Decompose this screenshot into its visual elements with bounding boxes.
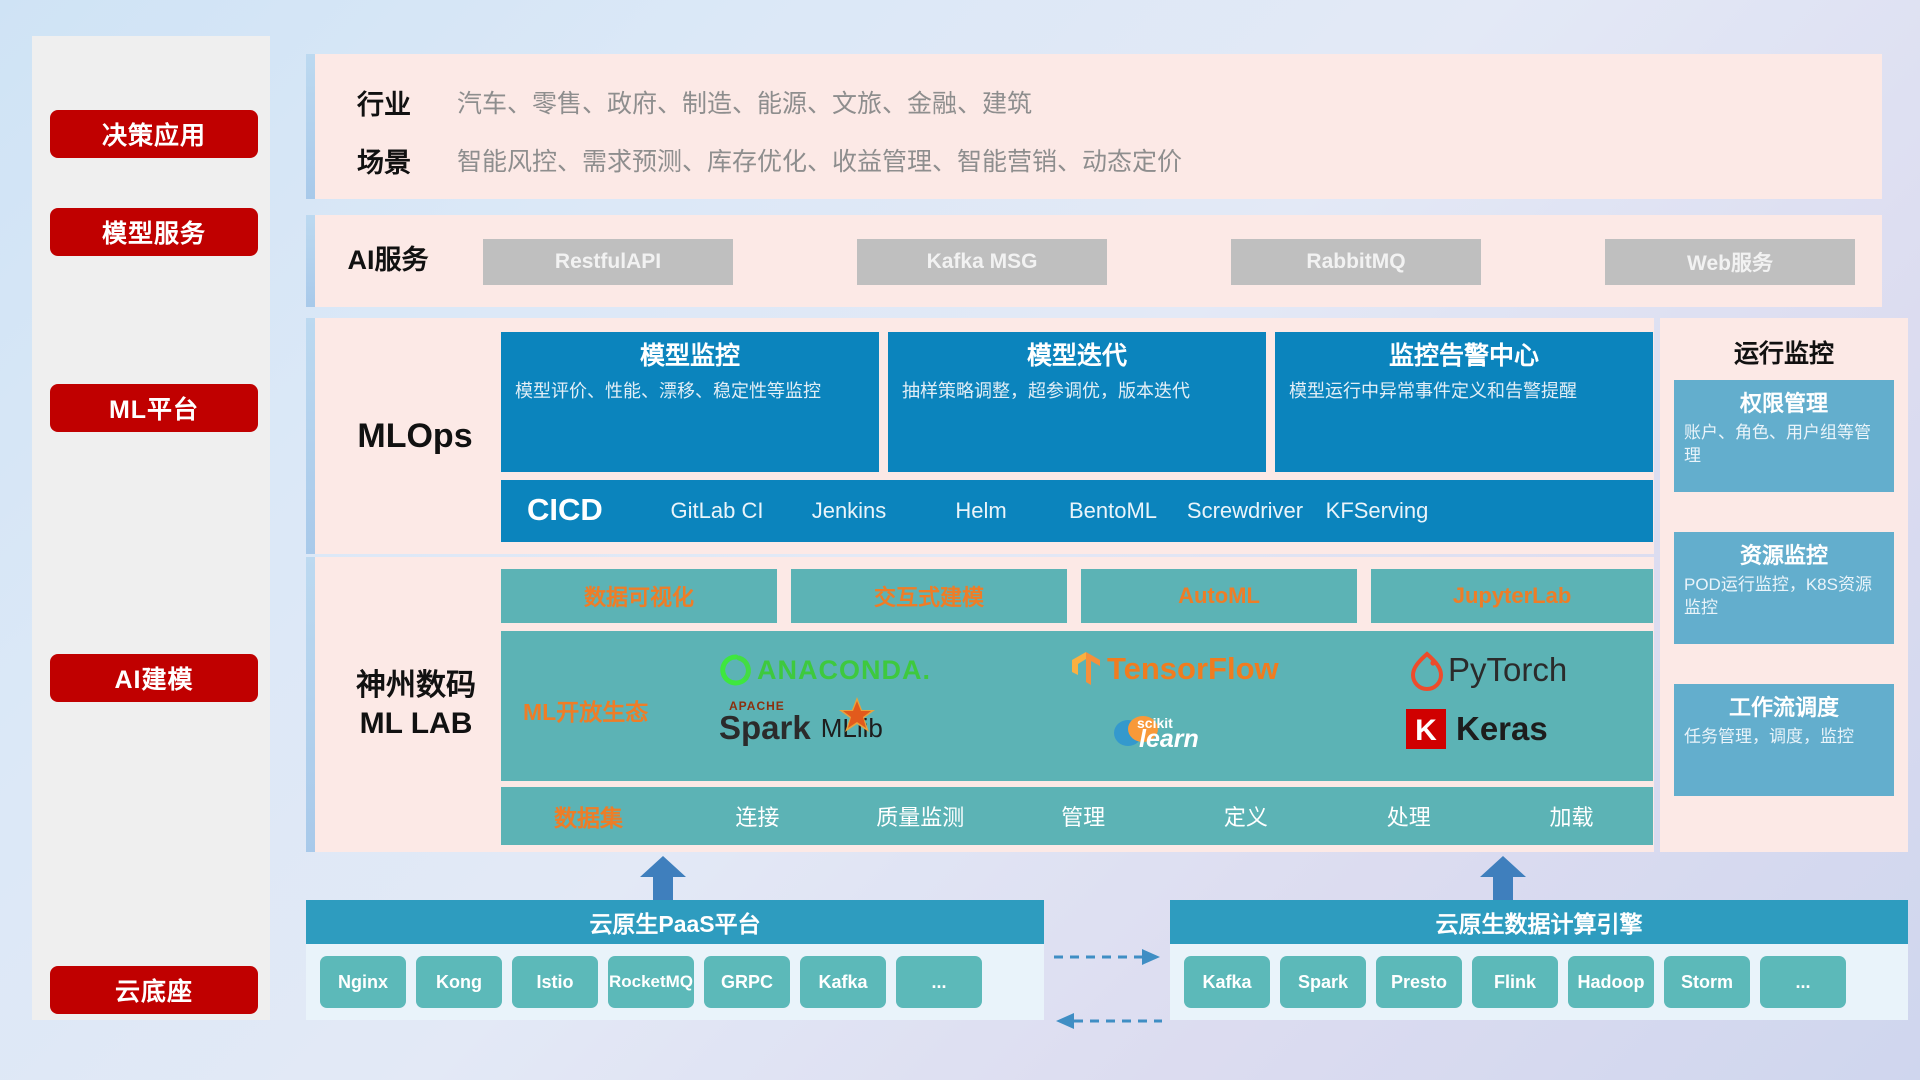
cicd-tool-bentoml[interactable]: BentoML — [1047, 480, 1179, 525]
model-service-layer: AI服务 RestfulAPI Kafka MSG RabbitMQ Web服务 — [306, 215, 1882, 307]
ml-open-ecosystem-label: ML开放生态 — [523, 693, 648, 727]
rail-item-decision-app[interactable]: 决策应用 — [50, 110, 258, 158]
dataset-cell-quality[interactable]: 质量监测 — [839, 800, 1002, 832]
monitor-card-permission[interactable]: 权限管理 账户、角色、用户组等管理 — [1674, 380, 1894, 492]
paas-platform-box: 云原生PaaS平台 Nginx Kong Istio RocketMQ GRPC… — [306, 900, 1044, 1020]
cicd-tool-gitlab-ci[interactable]: GitLab CI — [651, 480, 783, 525]
engine-chip-spark[interactable]: Spark — [1280, 956, 1366, 1008]
mlops-card-model-monitoring[interactable]: 模型监控 模型评价、性能、漂移、稳定性等监控 — [501, 332, 879, 472]
service-chip-web-service[interactable]: Web服务 — [1605, 239, 1855, 285]
paas-chip-more[interactable]: ... — [896, 956, 982, 1008]
logo-keras-text: Keras — [1456, 710, 1548, 748]
monitor-card-resource[interactable]: 资源监控 POD运行监控，K8S资源监控 — [1674, 532, 1894, 644]
cicd-tool-kfserving[interactable]: KFServing — [1311, 480, 1443, 525]
ml-lab-label-line2: ML LAB — [360, 705, 473, 743]
dashed-arrow-left-icon — [1054, 1012, 1162, 1030]
logo-anaconda-text: ANACONDA. — [757, 655, 931, 686]
dataset-label: 数据集 — [501, 799, 676, 833]
paas-chip-istio[interactable]: Istio — [512, 956, 598, 1008]
rail-item-ai-modeling[interactable]: AI建模 — [50, 654, 258, 702]
logo-anaconda: ANACONDA. — [719, 653, 931, 687]
up-arrow-icon — [1480, 856, 1526, 900]
up-arrow-icon — [640, 856, 686, 900]
run-monitor-column: 运行监控 权限管理 账户、角色、用户组等管理 资源监控 POD运行监控，K8S资… — [1660, 318, 1908, 852]
scenario-value: 智能风控、需求预测、库存优化、收益管理、智能营销、动态定价 — [457, 142, 1182, 178]
rail-item-model-service[interactable]: 模型服务 — [50, 208, 258, 256]
paas-chip-rocketmq[interactable]: RocketMQ — [608, 956, 694, 1008]
pytorch-icon — [1411, 652, 1443, 688]
engine-chip-more[interactable]: ... — [1760, 956, 1846, 1008]
data-compute-engine-box: 云原生数据计算引擎 Kafka Spark Presto Flink Hadoo… — [1170, 900, 1908, 1020]
industry-label: 行业 — [329, 83, 439, 122]
architecture-diagram: 决策应用 模型服务 ML平台 AI建模 云底座 行业 汽车、零售、政府、制造、能… — [0, 0, 1920, 1080]
service-chip-rabbitmq[interactable]: RabbitMQ — [1231, 239, 1481, 285]
svg-text:K: K — [1415, 714, 1437, 747]
card-desc: 抽样策略调整，超参调优，版本迭代 — [902, 379, 1252, 403]
cicd-tool-screwdriver[interactable]: Screwdriver — [1179, 480, 1311, 525]
data-compute-engine-header: 云原生数据计算引擎 — [1170, 900, 1908, 944]
dataset-cell-process[interactable]: 处理 — [1327, 800, 1490, 832]
cicd-strip: CICD GitLab CI Jenkins Helm BentoML Scre… — [501, 480, 1653, 542]
card-title: 监控告警中心 — [1289, 340, 1639, 373]
paas-chip-nginx[interactable]: Nginx — [320, 956, 406, 1008]
dataset-cell-connect[interactable]: 连接 — [676, 800, 839, 832]
paas-chip-grpc[interactable]: GRPC — [704, 956, 790, 1008]
tool-chip-data-visualization[interactable]: 数据可视化 — [501, 569, 777, 623]
monitor-card-workflow[interactable]: 工作流调度 任务管理，调度，监控 — [1674, 684, 1894, 796]
industry-row: 行业 汽车、零售、政府、制造、能源、文旅、金融、建筑 — [329, 76, 1032, 128]
logo-spark-apache-text: APACHE — [729, 699, 785, 713]
dataset-cell-load[interactable]: 加载 — [1490, 800, 1653, 832]
mlops-label: MLOps — [329, 318, 501, 554]
tool-chip-automl[interactable]: AutoML — [1081, 569, 1357, 623]
logo-pytorch: PyTorch — [1411, 651, 1567, 689]
engine-chip-flink[interactable]: Flink — [1472, 956, 1558, 1008]
card-desc: 任务管理，调度，监控 — [1684, 726, 1884, 749]
cicd-label: CICD — [501, 480, 651, 528]
card-title: 模型监控 — [515, 340, 865, 373]
dashed-arrow-left — [1054, 1012, 1162, 1030]
rail-item-cloud-base[interactable]: 云底座 — [50, 966, 258, 1014]
arrow-up-data-engine — [1480, 856, 1526, 900]
tensorflow-icon — [1071, 651, 1101, 687]
logo-tensorflow: TensorFlow — [1071, 651, 1279, 687]
mlops-card-model-iteration[interactable]: 模型迭代 抽样策略调整，超参调优，版本迭代 — [888, 332, 1266, 472]
card-title: 资源监控 — [1684, 538, 1884, 570]
arrow-up-paas — [640, 856, 686, 900]
card-title: 工作流调度 — [1684, 690, 1884, 722]
logo-learn-text: learn — [1139, 725, 1199, 754]
engine-chip-storm[interactable]: Storm — [1664, 956, 1750, 1008]
card-desc: POD运行监控，K8S资源监控 — [1684, 574, 1884, 620]
card-desc: 模型运行中异常事件定义和告警提醒 — [1289, 379, 1639, 403]
paas-chip-kong[interactable]: Kong — [416, 956, 502, 1008]
ai-service-label: AI服务 — [329, 215, 447, 307]
service-chip-restfulapi[interactable]: RestfulAPI — [483, 239, 733, 285]
ml-lab-label-line1: 神州数码 — [356, 667, 476, 705]
logo-keras: K Keras — [1406, 709, 1548, 749]
engine-chip-presto[interactable]: Presto — [1376, 956, 1462, 1008]
ml-lab-label: 神州数码 ML LAB — [325, 557, 507, 852]
run-monitor-title: 运行监控 — [1660, 334, 1908, 370]
logo-spark-text: Spark — [719, 709, 811, 747]
paas-chip-kafka[interactable]: Kafka — [800, 956, 886, 1008]
cicd-tool-jenkins[interactable]: Jenkins — [783, 480, 915, 525]
logo-pytorch-text: PyTorch — [1448, 651, 1567, 689]
engine-chip-hadoop[interactable]: Hadoop — [1568, 956, 1654, 1008]
mlops-layer: MLOps 模型监控 模型评价、性能、漂移、稳定性等监控 模型迭代 抽样策略调整… — [306, 318, 1654, 554]
left-rail: 决策应用 模型服务 ML平台 AI建模 云底座 — [32, 36, 270, 1020]
scenario-label: 场景 — [329, 141, 439, 180]
engine-chip-kafka[interactable]: Kafka — [1184, 956, 1270, 1008]
logo-spark-mllib: APACHE Spark MLlib — [719, 709, 883, 747]
card-desc: 账户、角色、用户组等管理 — [1684, 422, 1884, 468]
dataset-cell-define[interactable]: 定义 — [1164, 800, 1327, 832]
service-chip-kafka-msg[interactable]: Kafka MSG — [857, 239, 1107, 285]
paas-platform-header: 云原生PaaS平台 — [306, 900, 1044, 944]
dashed-arrow-right-icon — [1054, 948, 1162, 966]
dashed-arrow-right — [1054, 948, 1162, 966]
dataset-row: 数据集 连接 质量监测 管理 定义 处理 加载 — [501, 787, 1653, 845]
card-title: 权限管理 — [1684, 386, 1884, 418]
mlops-card-alert-center[interactable]: 监控告警中心 模型运行中异常事件定义和告警提醒 — [1275, 332, 1653, 472]
spark-star-icon — [837, 695, 877, 735]
anaconda-icon — [719, 653, 753, 687]
scenario-row: 场景 智能风控、需求预测、库存优化、收益管理、智能营销、动态定价 — [329, 134, 1182, 186]
logo-scikit-learn: scikit learn — [1113, 711, 1157, 751]
decision-application-layer: 行业 汽车、零售、政府、制造、能源、文旅、金融、建筑 场景 智能风控、需求预测、… — [306, 54, 1882, 199]
tool-chip-jupyterlab[interactable]: JupyterLab — [1371, 569, 1653, 623]
logo-tensorflow-text: TensorFlow — [1107, 651, 1279, 687]
ml-open-ecosystem-panel: ML开放生态 ANACONDA. TensorFlow — [501, 631, 1653, 781]
dataset-cell-manage[interactable]: 管理 — [1002, 800, 1165, 832]
ai-modeling-layer: 神州数码 ML LAB 数据可视化 交互式建模 AutoML JupyterLa… — [306, 557, 1654, 852]
cicd-tool-helm[interactable]: Helm — [915, 480, 1047, 525]
card-desc: 模型评价、性能、漂移、稳定性等监控 — [515, 379, 865, 403]
card-title: 模型迭代 — [902, 340, 1252, 373]
keras-icon: K — [1406, 709, 1446, 749]
tool-chip-interactive-modeling[interactable]: 交互式建模 — [791, 569, 1067, 623]
industry-value: 汽车、零售、政府、制造、能源、文旅、金融、建筑 — [457, 84, 1032, 120]
rail-item-ml-platform[interactable]: ML平台 — [50, 384, 258, 432]
